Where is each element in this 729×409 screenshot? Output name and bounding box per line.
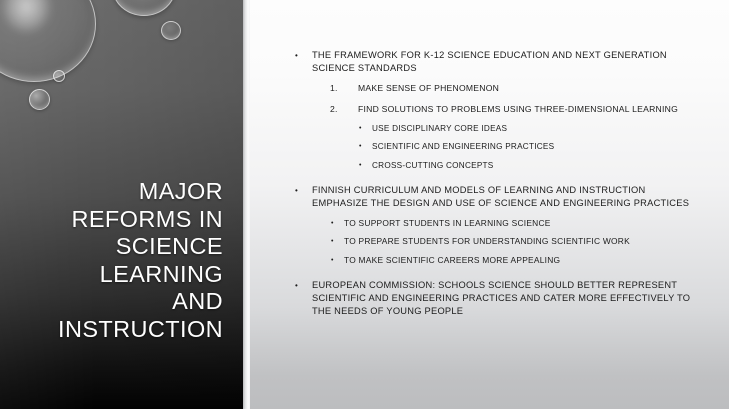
section-spacer xyxy=(291,272,691,279)
bullet-marker-icon: • xyxy=(295,279,298,292)
section-spacer xyxy=(291,177,691,184)
bubble-icon-large xyxy=(0,0,96,82)
bullet-item-level3: • USE DISCIPLINARY CORE IDEAS xyxy=(291,122,691,135)
bullet-marker-icon: • xyxy=(295,184,298,197)
bubble-icon-small-b xyxy=(29,89,50,110)
bubble-rim xyxy=(53,70,65,82)
bubble-icon-medium xyxy=(112,0,176,16)
bullet-marker-icon: • xyxy=(359,159,362,172)
bullet-marker-icon: • xyxy=(295,49,298,62)
bullet-text: TO MAKE SCIENTIFIC CAREERS MORE APPEALIN… xyxy=(344,255,560,265)
bullet-marker-icon: • xyxy=(359,140,362,153)
bubble-rim xyxy=(161,21,181,40)
bullet-item-level3: • CROSS-CUTTING CONCEPTS xyxy=(291,159,691,172)
bubble-rim xyxy=(29,89,50,110)
panel-divider xyxy=(243,0,250,409)
bullet-text: CROSS-CUTTING CONCEPTS xyxy=(372,161,494,170)
bullet-marker-icon: • xyxy=(331,217,334,230)
list-number-marker: 1. xyxy=(330,82,338,95)
bubble-icon-tiny xyxy=(53,70,65,82)
bullet-text: TO PREPARE STUDENTS FOR UNDERSTANDING SC… xyxy=(344,236,630,246)
bullet-item-level1: • THE FRAMEWORK FOR K-12 SCIENCE EDUCATI… xyxy=(291,49,691,75)
bullet-text: FINNISH CURRICULUM AND MODELS OF LEARNIN… xyxy=(312,185,689,208)
list-number-marker: 2. xyxy=(330,103,338,116)
numbered-text: MAKE SENSE OF PHENOMENON xyxy=(358,83,499,93)
bullet-item-level2: • TO MAKE SCIENTIFIC CAREERS MORE APPEAL… xyxy=(291,254,691,267)
numbered-item-2: 2. FIND SOLUTIONS TO PROBLEMS USING THRE… xyxy=(291,103,691,116)
bullet-text: SCIENTIFIC AND ENGINEERING PRACTICES xyxy=(372,142,554,151)
bullet-item-level2: • TO SUPPORT STUDENTS IN LEARNING SCIENC… xyxy=(291,217,691,230)
numbered-item-1: 1. MAKE SENSE OF PHENOMENON xyxy=(291,82,691,95)
bullet-text: THE FRAMEWORK FOR K-12 SCIENCE EDUCATION… xyxy=(312,50,667,73)
slide-body-content: • THE FRAMEWORK FOR K-12 SCIENCE EDUCATI… xyxy=(291,49,691,325)
bullet-item-level1: • FINNISH CURRICULUM AND MODELS OF LEARN… xyxy=(291,184,691,210)
bullet-item-level3: • SCIENTIFIC AND ENGINEERING PRACTICES xyxy=(291,140,691,153)
bullet-marker-icon: • xyxy=(331,235,334,248)
bullet-text: EUROPEAN COMMISSION: SCHOOLS SCIENCE SHO… xyxy=(312,280,690,316)
title-panel: MAJOR REFORMS IN SCIENCE LEARNING AND IN… xyxy=(0,0,243,409)
bullet-text: USE DISCIPLINARY CORE IDEAS xyxy=(372,124,507,133)
bullet-marker-icon: • xyxy=(359,122,362,135)
bullet-item-level1: • EUROPEAN COMMISSION: SCHOOLS SCIENCE S… xyxy=(291,279,691,319)
numbered-text: FIND SOLUTIONS TO PROBLEMS USING THREE-D… xyxy=(358,104,678,114)
bubble-rim xyxy=(112,0,176,16)
bubble-rim xyxy=(0,0,96,82)
bullet-text: TO SUPPORT STUDENTS IN LEARNING SCIENCE xyxy=(344,218,551,228)
bullet-item-level2: • TO PREPARE STUDENTS FOR UNDERSTANDING … xyxy=(291,235,691,248)
bubble-icon-small-a xyxy=(161,21,181,40)
slide-title: MAJOR REFORMS IN SCIENCE LEARNING AND IN… xyxy=(20,178,223,343)
bullet-marker-icon: • xyxy=(331,254,334,267)
presentation-slide: MAJOR REFORMS IN SCIENCE LEARNING AND IN… xyxy=(0,0,729,409)
